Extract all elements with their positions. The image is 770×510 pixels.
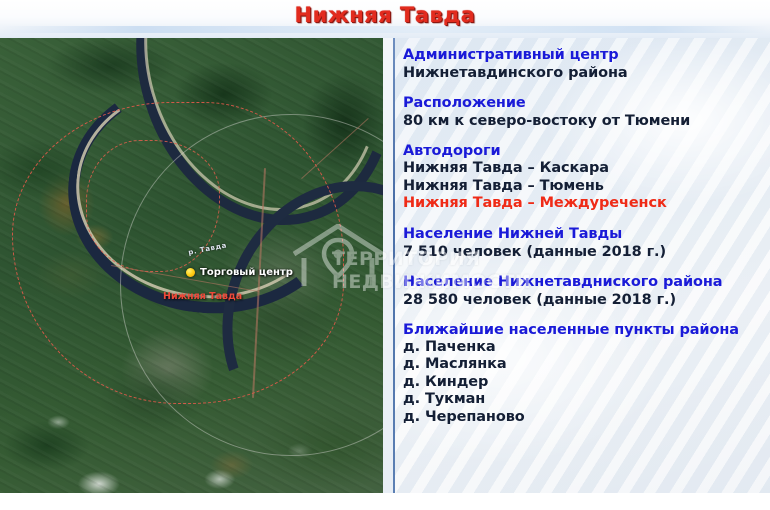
poi-label: Торговый центр bbox=[200, 267, 293, 278]
info-block-heading: Расположение bbox=[403, 94, 762, 112]
info-block-value: 80 км к северо-востоку от Тюмени bbox=[403, 112, 762, 130]
page-title: Нижняя Тавда bbox=[0, 3, 770, 27]
bottom-strip bbox=[0, 493, 770, 510]
info-block-value: Нижняя Тавда – Тюмень bbox=[403, 178, 762, 196]
yellow-dot-marker-icon bbox=[186, 268, 195, 277]
info-block-value: д. Паченка bbox=[403, 339, 762, 357]
info-block-value: д. Маслянка bbox=[403, 356, 762, 374]
info-block-heading: Население Нижней Тавды bbox=[403, 225, 762, 243]
info-block-heading: Автодороги bbox=[403, 142, 762, 160]
info-panel: Административный центрНижнетавдинского р… bbox=[383, 38, 770, 493]
info-blocks: Административный центрНижнетавдинского р… bbox=[403, 46, 762, 426]
poi-marker-shopping-center[interactable]: Торговый центр bbox=[186, 267, 293, 278]
slide-root: Нижняя Тавда р. Тавда Торговый центр Ниж… bbox=[0, 0, 770, 510]
info-block-value: д. Тукман bbox=[403, 391, 762, 409]
info-block: АвтодорогиНижняя Тавда – КаскараНижняя Т… bbox=[403, 142, 762, 213]
info-block-heading: Административный центр bbox=[403, 46, 762, 64]
info-block-value: д. Киндер bbox=[403, 374, 762, 392]
info-block-heading: Население Нижнетавдниского района bbox=[403, 273, 762, 291]
info-block: Ближайшие населенные пункты районад. Пач… bbox=[403, 321, 762, 427]
town-label: Нижняя Тавда bbox=[163, 291, 242, 302]
header-band: Нижняя Тавда bbox=[0, 0, 770, 38]
info-block: Население Нижнетавдниского района28 580 … bbox=[403, 273, 762, 309]
info-block-value: 7 510 человек (данные 2018 г.) bbox=[403, 243, 762, 261]
map-satellite-imagery bbox=[0, 38, 383, 493]
info-block-heading: Ближайшие населенные пункты района bbox=[403, 321, 762, 339]
info-block-value: Нижняя Тавда – Междуреченск bbox=[403, 195, 762, 213]
info-block-value: д. Черепаново bbox=[403, 409, 762, 427]
info-block: Расположение80 км к северо-востоку от Тю… bbox=[403, 94, 762, 130]
info-block-value: 28 580 человек (данные 2018 г.) bbox=[403, 291, 762, 309]
header-streak-decoration bbox=[0, 26, 770, 33]
info-block: Население Нижней Тавды7 510 человек (дан… bbox=[403, 225, 762, 261]
info-block-value: Нижнетавдинского района bbox=[403, 64, 762, 82]
satellite-map[interactable]: р. Тавда Торговый центр Нижняя Тавда bbox=[0, 38, 383, 493]
info-block-value: Нижняя Тавда – Каскара bbox=[403, 160, 762, 178]
info-block: Административный центрНижнетавдинского р… bbox=[403, 46, 762, 82]
